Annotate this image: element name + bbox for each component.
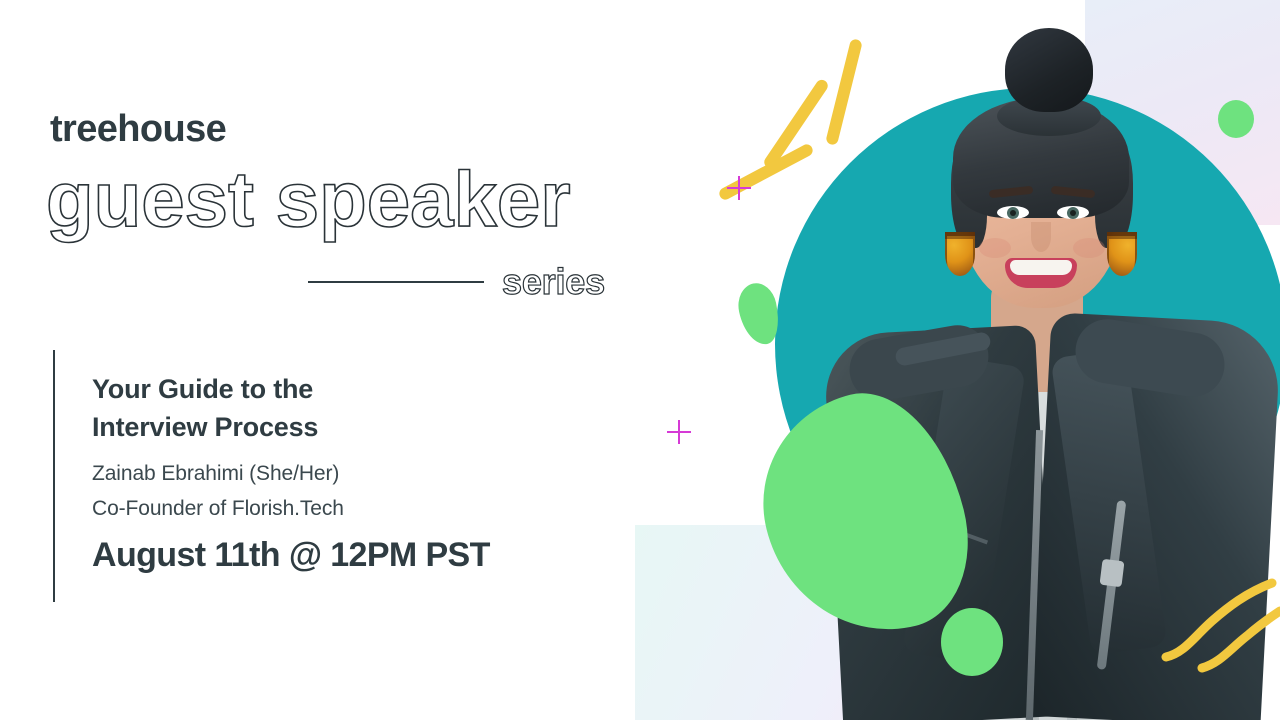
slide-canvas: treehouse guest speaker series Your Guid… — [0, 0, 1280, 720]
portrait-eye-right — [1057, 206, 1089, 219]
talk-title: Your Guide to the Interview Process — [92, 370, 612, 447]
portrait-cheek-left — [979, 238, 1011, 258]
series-divider-rule — [308, 281, 484, 283]
green-dot-shape — [941, 608, 1003, 676]
speaker-role: Co-Founder of Florish.Tech — [92, 497, 344, 521]
brand-wordmark: treehouse — [50, 108, 226, 151]
speaker-name: Zainab Ebrahimi (She/Her) — [92, 462, 339, 486]
magenta-plus-icon-upper — [727, 176, 751, 200]
series-label: series — [502, 261, 605, 303]
portrait-smile — [1005, 258, 1077, 288]
portrait-earring-left — [945, 232, 975, 276]
portrait-hair-bun — [1005, 28, 1093, 112]
green-circle-shape — [1218, 100, 1254, 138]
portrait-eye-left — [997, 206, 1029, 219]
slide-content: treehouse guest speaker series Your Guid… — [0, 0, 700, 720]
talk-title-line-2: Interview Process — [92, 408, 612, 446]
event-date-time: August 11th @ 12PM PST — [92, 536, 490, 575]
portrait-cheek-right — [1073, 238, 1105, 258]
portrait-zipper-pull — [1099, 559, 1124, 587]
series-row: series — [308, 258, 628, 306]
yellow-wave-stroke-1 — [1166, 583, 1272, 657]
portrait-earring-right — [1107, 232, 1137, 276]
yellow-wave-stroke-group — [1160, 565, 1280, 675]
vertical-accent-rule — [53, 350, 55, 602]
portrait-nose — [1031, 222, 1051, 252]
talk-title-line-1: Your Guide to the — [92, 370, 612, 408]
hero-outline-title: guest speaker — [46, 160, 571, 238]
